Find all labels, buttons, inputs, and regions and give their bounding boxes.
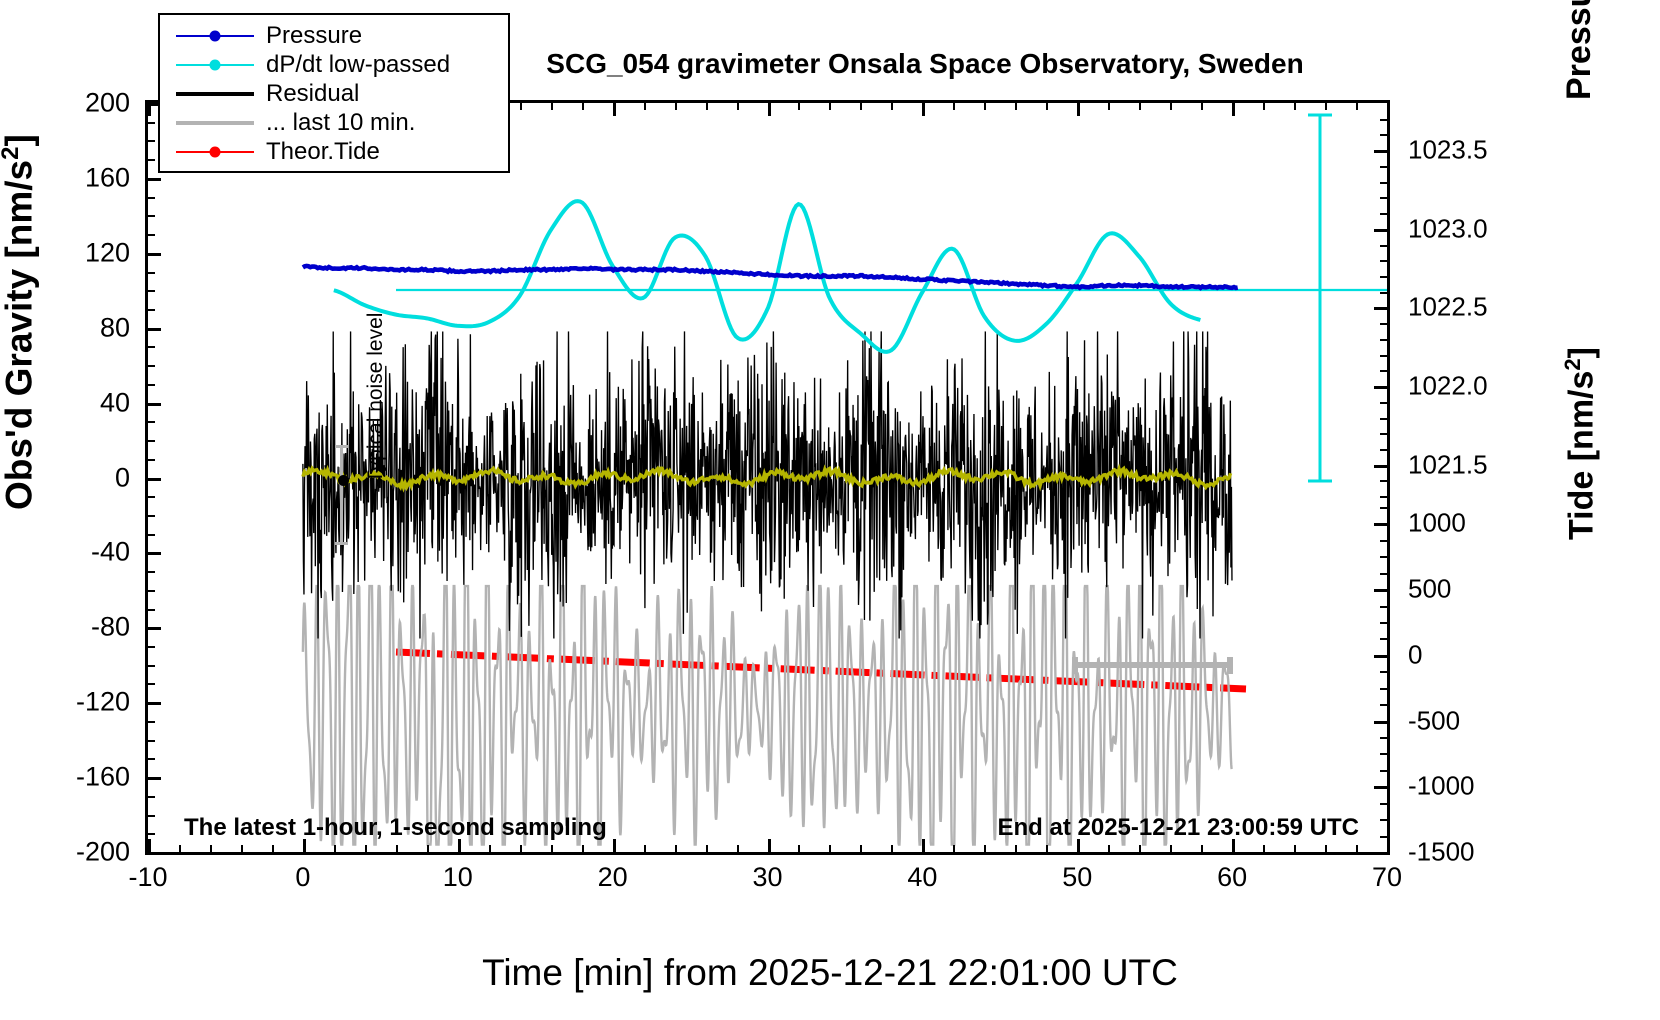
axis-tick <box>148 403 161 406</box>
axis-tick <box>891 103 893 110</box>
axis-tick <box>1380 197 1387 199</box>
axis-tick <box>1077 103 1080 116</box>
axis-tick <box>1170 103 1172 110</box>
axis-tick <box>1374 150 1387 153</box>
axis-tick <box>148 740 155 742</box>
legend-marker-dot <box>210 146 221 157</box>
axis-tick <box>148 515 155 517</box>
axis-tick <box>148 234 155 236</box>
axis-tick <box>1380 260 1387 262</box>
legend-swatch-icon <box>176 57 254 73</box>
axis-tick <box>1380 182 1387 184</box>
axis-tick <box>1380 507 1387 509</box>
left-axis-tick-label: 0 <box>10 462 130 493</box>
axis-tick <box>148 103 151 116</box>
axis-tick <box>1380 688 1387 690</box>
legend-swatch-icon <box>176 28 254 44</box>
axis-tick <box>829 845 831 852</box>
axis-tick <box>396 845 398 852</box>
axis-tick <box>1232 839 1235 852</box>
axis-tick <box>1380 556 1387 558</box>
axis-tick <box>706 103 708 110</box>
axis-tick <box>1108 845 1110 852</box>
left-axis-tick-label: -160 <box>10 762 130 793</box>
axis-tick <box>148 328 161 331</box>
axis-tick <box>272 845 274 852</box>
axis-tick <box>148 571 155 573</box>
axis-tick <box>148 365 155 367</box>
left-axis-tick-label: -40 <box>10 537 130 568</box>
left-axis-tick-label: 120 <box>10 237 130 268</box>
plot-area: Typical noise level 1 DIV = 0.5 hPa/h av… <box>145 100 1390 855</box>
axis-tick <box>1380 480 1387 482</box>
axis-tick <box>1374 589 1387 592</box>
axis-tick <box>1294 845 1296 852</box>
axis-tick <box>1380 753 1387 755</box>
axis-tick <box>148 758 155 760</box>
x-axis-title: Time [min] from 2025-12-21 22:01:00 UTC <box>0 952 1660 994</box>
axis-tick <box>922 839 925 852</box>
axis-tick <box>1015 845 1017 852</box>
legend-marker-dot <box>210 30 221 41</box>
axis-tick <box>1380 370 1387 372</box>
right-pressure-tick-label: 1022.0 <box>1408 371 1488 402</box>
axis-tick <box>1380 166 1387 168</box>
axis-tick <box>613 839 616 852</box>
legend-swatch-icon <box>176 115 254 131</box>
x-axis-tick-label: 0 <box>295 862 310 893</box>
axis-tick <box>1374 229 1387 232</box>
axis-tick <box>768 103 771 116</box>
legend: PressuredP/dt low-passedResidual... last… <box>158 13 510 173</box>
axis-tick <box>1380 323 1387 325</box>
axis-tick <box>1374 786 1387 789</box>
axis-tick <box>148 815 155 817</box>
left-axis-tick-label: -200 <box>10 837 130 868</box>
axis-tick <box>1380 819 1387 821</box>
axis-tick <box>1380 402 1387 404</box>
series-pressure <box>303 266 1238 288</box>
axis-tick <box>1201 103 1203 110</box>
axis-tick <box>551 103 553 110</box>
left-axis-title-sup: 2 <box>0 147 24 160</box>
axis-tick <box>148 839 151 852</box>
axis-tick <box>1046 845 1048 852</box>
axis-tick <box>1015 103 1017 110</box>
axis-tick <box>458 839 461 852</box>
right-tide-title-tail: ] <box>1562 347 1600 358</box>
axis-tick <box>148 665 155 667</box>
axis-tick <box>1380 606 1387 608</box>
axis-tick <box>1356 103 1358 110</box>
sampling-note: The latest 1-hour, 1-second sampling <box>184 814 607 842</box>
axis-tick <box>1263 845 1265 852</box>
axis-tick <box>148 309 155 311</box>
legend-marker-dot <box>210 59 221 70</box>
x-axis-tick-label: 30 <box>752 862 782 893</box>
div-indicator <box>1308 115 1332 481</box>
axis-tick <box>984 845 986 852</box>
axis-tick <box>365 845 367 852</box>
axis-tick <box>210 845 212 852</box>
right-pressure-tick-label: 1023.5 <box>1408 135 1488 166</box>
axis-tick <box>1380 276 1387 278</box>
legend-rows: PressuredP/dt low-passedResidual... last… <box>160 21 508 166</box>
axis-tick <box>675 845 677 852</box>
axis-tick <box>148 459 155 461</box>
axis-tick <box>1374 655 1387 658</box>
axis-tick <box>148 721 155 723</box>
right-tide-tick-label: 1000 <box>1408 508 1466 539</box>
axis-tick <box>984 103 986 110</box>
right-tide-tick-label: 500 <box>1408 574 1451 605</box>
axis-tick <box>148 122 155 124</box>
axis-tick <box>1263 103 1265 110</box>
axis-tick <box>148 702 161 705</box>
axis-tick <box>148 833 155 835</box>
axis-tick <box>148 140 155 142</box>
plot-clip: Typical noise level 1 DIV = 0.5 hPa/h av… <box>148 103 1387 852</box>
axis-tick <box>148 253 161 256</box>
axis-tick <box>1380 573 1387 575</box>
axis-tick <box>551 845 553 852</box>
axis-tick <box>1380 540 1387 542</box>
axis-tick <box>1380 496 1387 498</box>
axis-tick <box>1380 622 1387 624</box>
right-tide-title-sup: 2 <box>1560 358 1585 370</box>
axis-tick <box>1380 836 1387 838</box>
axis-tick <box>798 845 800 852</box>
axis-tick <box>1374 465 1387 468</box>
legend-label: ... last 10 min. <box>266 109 415 137</box>
axis-tick <box>860 845 862 852</box>
x-axis-tick-label: 50 <box>1062 862 1092 893</box>
axis-tick <box>1139 845 1141 852</box>
axis-tick <box>148 796 155 798</box>
axis-tick <box>148 272 155 274</box>
legend-label: Theor.Tide <box>266 138 380 166</box>
axis-tick <box>1380 339 1387 341</box>
x-axis-tick-label: 10 <box>443 862 473 893</box>
axis-tick <box>1380 449 1387 451</box>
axis-tick <box>520 845 522 852</box>
legend-label: Pressure <box>266 22 362 50</box>
axis-tick <box>148 777 161 780</box>
x-axis-tick-label: 60 <box>1217 862 1247 893</box>
axis-tick <box>1374 307 1387 310</box>
axis-tick <box>1380 770 1387 772</box>
right-pressure-axis-title: Pressure [hPa] <box>1560 0 1599 100</box>
axis-tick <box>1380 119 1387 121</box>
axis-tick <box>303 839 306 852</box>
axis-tick <box>675 103 677 110</box>
left-axis-title-tail: ] <box>0 134 39 146</box>
noise-level-dot <box>338 475 349 486</box>
axis-tick <box>582 845 584 852</box>
axis-tick <box>613 103 616 116</box>
axis-tick <box>891 845 893 852</box>
right-pressure-tick-label: 1022.5 <box>1408 292 1488 323</box>
legend-label: Residual <box>266 80 359 108</box>
axis-tick <box>148 384 155 386</box>
axis-tick <box>1294 103 1296 110</box>
axis-tick <box>241 845 243 852</box>
axis-tick <box>1380 737 1387 739</box>
axis-tick <box>1380 355 1387 357</box>
legend-item[interactable]: Pressure <box>160 21 508 50</box>
axis-tick <box>179 845 181 852</box>
legend-label: dP/dt low-passed <box>266 51 450 79</box>
axis-tick <box>737 103 739 110</box>
series-last-10-min <box>303 586 1232 844</box>
x-axis-tick-label: 20 <box>598 862 628 893</box>
axis-tick <box>644 845 646 852</box>
axis-tick <box>1232 103 1235 116</box>
legend-swatch-icon <box>176 86 254 102</box>
end-time-note: End at 2025-12-21 23:00:59 UTC <box>998 814 1360 842</box>
axis-tick <box>520 103 522 110</box>
axis-tick <box>148 534 155 536</box>
axis-tick <box>922 103 925 116</box>
left-axis-tick-label: 40 <box>10 387 130 418</box>
axis-tick <box>148 609 155 611</box>
axis-tick <box>706 845 708 852</box>
axis-tick <box>1325 845 1327 852</box>
axis-tick <box>148 215 155 217</box>
axis-tick <box>1380 671 1387 673</box>
axis-tick <box>148 159 155 161</box>
axis-tick <box>1374 523 1387 526</box>
axis-tick <box>148 627 161 630</box>
right-tide-tick-label: -500 <box>1408 705 1460 736</box>
axis-tick <box>768 839 771 852</box>
left-axis-tick-label: -120 <box>10 687 130 718</box>
gravimeter-plot-page: SCG_054 gravimeter Onsala Space Observat… <box>0 0 1660 1020</box>
axis-tick <box>148 290 155 292</box>
axis-tick <box>427 845 429 852</box>
axis-tick <box>1046 103 1048 110</box>
axis-tick <box>1380 803 1387 805</box>
axis-tick <box>1380 213 1387 215</box>
axis-tick <box>1139 103 1141 110</box>
right-tide-tick-label: -1000 <box>1408 771 1475 802</box>
axis-tick <box>148 478 161 481</box>
right-pressure-tick-label: 1023.0 <box>1408 213 1488 244</box>
axis-tick <box>737 845 739 852</box>
axis-tick <box>148 646 155 648</box>
axis-tick <box>148 552 161 555</box>
x-axis-tick-label: 70 <box>1372 862 1402 893</box>
axis-tick <box>148 421 155 423</box>
axis-tick <box>1325 103 1327 110</box>
page-title: SCG_054 gravimeter Onsala Space Observat… <box>430 48 1420 80</box>
axis-tick <box>798 103 800 110</box>
right-pressure-tick-label: 1021.5 <box>1408 449 1488 480</box>
left-axis-tick-label: 160 <box>10 162 130 193</box>
axis-tick <box>829 103 831 110</box>
axis-tick <box>148 346 155 348</box>
left-axis-tick-label: -80 <box>10 612 130 643</box>
data-curves <box>148 103 1387 852</box>
axis-tick <box>860 103 862 110</box>
legend-item[interactable]: dP/dt low-passed <box>160 50 508 79</box>
axis-tick <box>148 178 161 181</box>
legend-item[interactable]: Residual <box>160 79 508 108</box>
noise-level-label: Typical noise level <box>364 313 388 483</box>
axis-tick <box>1201 845 1203 852</box>
x-axis-tick-label: -10 <box>128 862 167 893</box>
axis-tick <box>644 103 646 110</box>
axis-tick <box>489 845 491 852</box>
axis-tick <box>953 845 955 852</box>
series-residual <box>303 331 1232 638</box>
right-tide-tick-label: -1500 <box>1408 837 1475 868</box>
axis-tick <box>1380 704 1387 706</box>
legend-item[interactable]: ... last 10 min. <box>160 108 508 137</box>
axis-tick <box>148 440 155 442</box>
legend-swatch-icon <box>176 144 254 160</box>
legend-item[interactable]: Theor.Tide <box>160 137 508 166</box>
axis-tick <box>1077 839 1080 852</box>
left-axis-tick-label: 200 <box>10 88 130 119</box>
axis-tick <box>334 845 336 852</box>
right-tide-tick-label: 0 <box>1408 639 1422 670</box>
axis-tick <box>1380 245 1387 247</box>
left-axis-tick-label: 80 <box>10 312 130 343</box>
axis-tick <box>148 197 155 199</box>
axis-tick <box>1380 418 1387 420</box>
axis-tick <box>1108 103 1110 110</box>
axis-tick <box>148 683 155 685</box>
axis-tick <box>1380 433 1387 435</box>
axis-tick <box>1374 721 1387 724</box>
x-axis-tick-label: 40 <box>907 862 937 893</box>
right-tide-title-text: Tide [nm/s <box>1562 371 1600 540</box>
axis-tick <box>1380 638 1387 640</box>
axis-tick <box>1380 134 1387 136</box>
axis-tick <box>1380 292 1387 294</box>
right-tide-axis-title: Tide [nm/s2] <box>1560 347 1601 540</box>
axis-tick <box>1374 386 1387 389</box>
axis-tick <box>1170 845 1172 852</box>
axis-tick <box>953 103 955 110</box>
axis-tick <box>1356 845 1358 852</box>
axis-tick <box>148 496 155 498</box>
axis-tick <box>148 590 155 592</box>
axis-tick <box>582 103 584 110</box>
